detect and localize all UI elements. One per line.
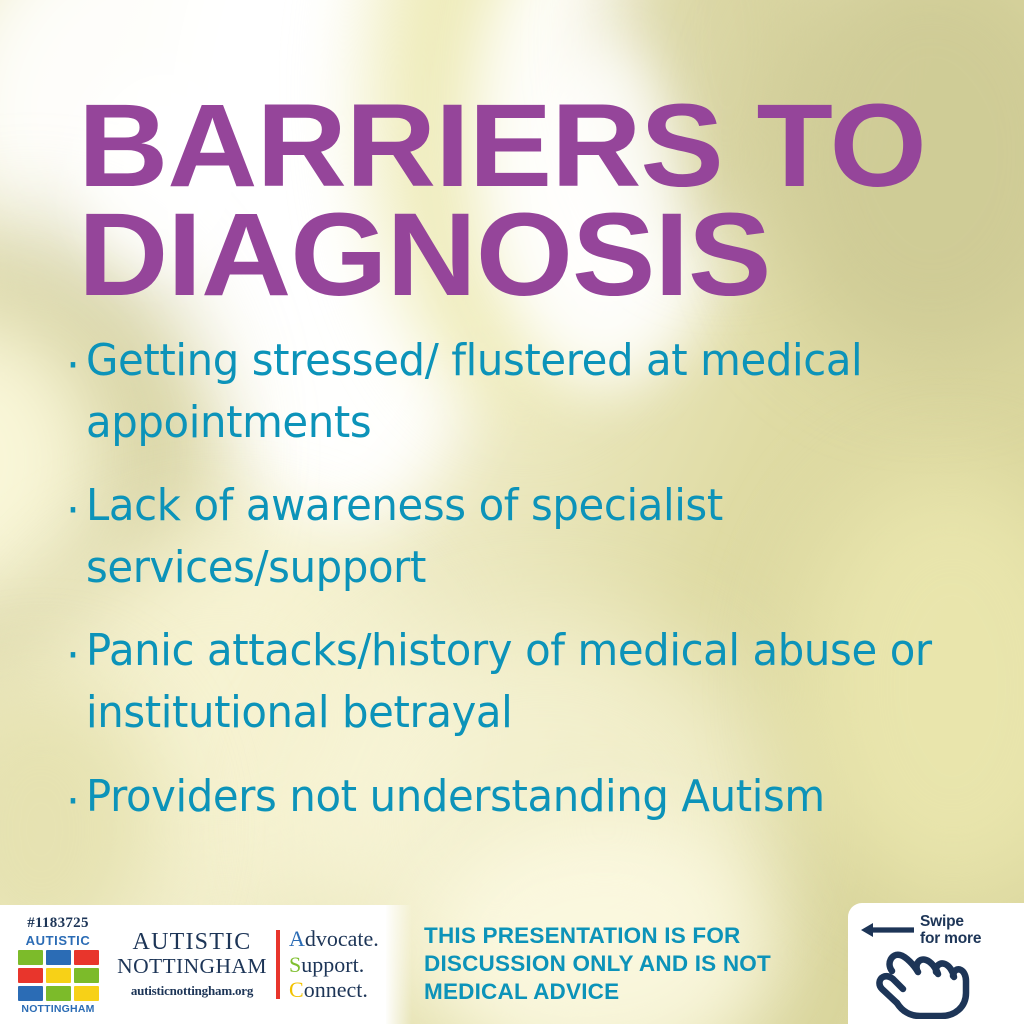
tagline-rest: upport. — [301, 952, 364, 977]
tagline-cap: A — [289, 926, 305, 951]
logo-mark: #1183725 AUTISTIC NOTTINGHAM — [10, 915, 106, 1015]
list-item: · Getting stressed/ flustered at medical… — [66, 330, 1006, 453]
grid-cell — [18, 950, 43, 965]
bullet-list: · Getting stressed/ flustered at medical… — [66, 330, 1006, 849]
grid-cell — [18, 968, 43, 983]
tagline-advocate: Advocate. — [289, 926, 379, 952]
bullet-text: Lack of awareness of specialist services… — [86, 475, 960, 598]
org-name-line-1: AUTISTIC — [116, 930, 268, 955]
org-name-line-2: NOTTINGHAM — [116, 955, 268, 977]
social-post-slide: BARRIERS TO DIAGNOSIS · Getting stressed… — [0, 0, 1024, 1024]
logo-color-grid-icon — [10, 950, 106, 1001]
tagline-rest: onnect. — [304, 977, 368, 1002]
page-title: BARRIERS TO DIAGNOSIS — [78, 92, 978, 309]
charity-number: #1183725 — [10, 915, 106, 932]
logo-mark-bottom-word: NOTTINGHAM — [10, 1003, 106, 1015]
bullet-text: Providers not understanding Autism — [86, 766, 960, 828]
tagline-cap: C — [289, 977, 304, 1002]
bullet-text: Getting stressed/ flustered at medical a… — [86, 330, 960, 453]
list-item: · Providers not understanding Autism — [66, 766, 1006, 828]
title-line-1: BARRIERS TO — [78, 92, 1024, 201]
swipe-line-1: Swipe — [920, 913, 981, 930]
bullet-marker-icon: · — [66, 634, 80, 678]
org-tagline: Advocate. Support. Connect. — [276, 926, 379, 1003]
tagline-rest: dvocate. — [305, 926, 379, 951]
list-item: · Lack of awareness of specialist servic… — [66, 475, 1006, 598]
logo-mark-top-word: AUTISTIC — [10, 933, 106, 948]
bullet-marker-icon: · — [66, 489, 80, 533]
list-item: · Panic attacks/history of medical abuse… — [66, 620, 1006, 743]
footer: #1183725 AUTISTIC NOTTINGHAM AUTISTIC NO… — [0, 900, 1024, 1024]
tagline-connect: Connect. — [289, 977, 379, 1003]
organisation-name: AUTISTIC NOTTINGHAM autisticnottingham.o… — [116, 930, 268, 999]
tagline-support: Support. — [289, 952, 379, 978]
swipe-hand-icon — [870, 933, 978, 1019]
org-website[interactable]: autisticnottingham.org — [116, 983, 268, 999]
grid-cell — [46, 968, 71, 983]
grid-cell — [46, 950, 71, 965]
grid-cell — [74, 986, 99, 1001]
grid-cell — [74, 968, 99, 983]
title-line-2: DIAGNOSIS — [78, 201, 1024, 310]
organisation-logo-panel: #1183725 AUTISTIC NOTTINGHAM AUTISTIC NO… — [0, 905, 386, 1024]
grid-cell — [74, 950, 99, 965]
tagline-cap: S — [289, 952, 301, 977]
bullet-marker-icon: · — [66, 344, 80, 388]
bullet-marker-icon: · — [66, 780, 80, 824]
bullet-text: Panic attacks/history of medical abuse o… — [86, 620, 960, 743]
disclaimer-text: THIS PRESENTATION IS FOR DISCUSSION ONLY… — [424, 922, 824, 1006]
swipe-for-more-badge[interactable]: Swipe for more — [848, 903, 1024, 1024]
grid-cell — [46, 986, 71, 1001]
grid-cell — [18, 986, 43, 1001]
